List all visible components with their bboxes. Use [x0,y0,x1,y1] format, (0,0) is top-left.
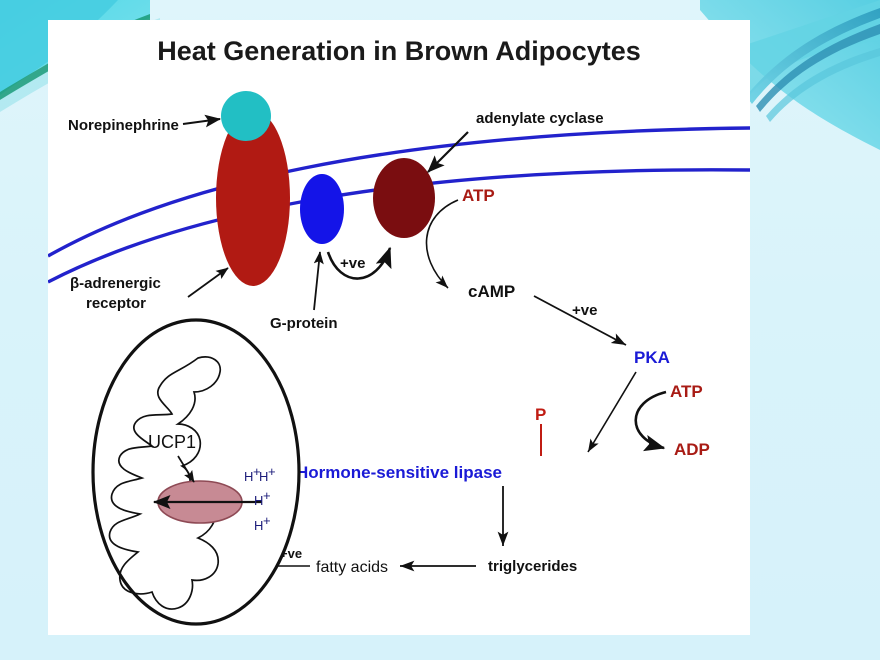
hormone-sensitive-lipase-label: Hormone-sensitive lipase [296,463,502,482]
h-plus-superscript-4: + [263,513,271,528]
ucp1-label: UCP1 [148,432,196,452]
plus-ve-gprotein-label: +ve [340,255,365,272]
g-protein-shape [300,174,344,244]
atp-top-label: ATP [462,186,495,205]
plus-ve-camp-label: +ve [572,302,597,319]
h-plus-superscript-2: + [268,464,276,479]
norepinephrine-label: Norepinephrine [68,117,179,134]
adenylate-cyclase-label: adenylate cyclase [476,110,604,127]
fatty-acids-label: fatty acids [316,559,388,576]
norepinephrine-shape [221,91,271,141]
phosphate-label: P [535,405,546,424]
g-protein-label: G-protein [270,315,338,332]
pka-to-lipase-arrow [588,372,636,452]
beta-adrenergic-label-line1: β-adrenergic [70,275,161,292]
atp-adp-curved-arrow [636,392,666,448]
triglycerides-label: triglycerides [488,558,577,575]
pathway-diagram: Heat Generation in Brown Adipocytes Nore… [48,20,750,635]
adenylate-cyclase-shape [373,158,435,238]
figure-title: Heat Generation in Brown Adipocytes [157,36,641,66]
beta-adrenergic-arrow [188,268,228,297]
adenylate-cyclase-arrow [428,132,468,172]
figure-panel: Heat Generation in Brown Adipocytes Nore… [48,20,750,635]
norepinephrine-arrow [183,119,220,124]
h-plus-label-4: H [254,518,263,533]
g-protein-arrow [314,252,320,310]
adp-pka-label: ADP [674,440,710,459]
h-plus-superscript-3: + [263,488,271,503]
h-plus-label-1: H [244,469,253,484]
h-plus-label-2: H [259,469,268,484]
camp-label: cAMP [468,282,515,301]
atp-pka-label: ATP [670,382,703,401]
pka-label: PKA [634,348,670,367]
slide-canvas: Heat Generation in Brown Adipocytes Nore… [0,0,880,660]
beta-adrenergic-label-line2: receptor [86,295,146,312]
h-plus-label-3: H [254,493,263,508]
